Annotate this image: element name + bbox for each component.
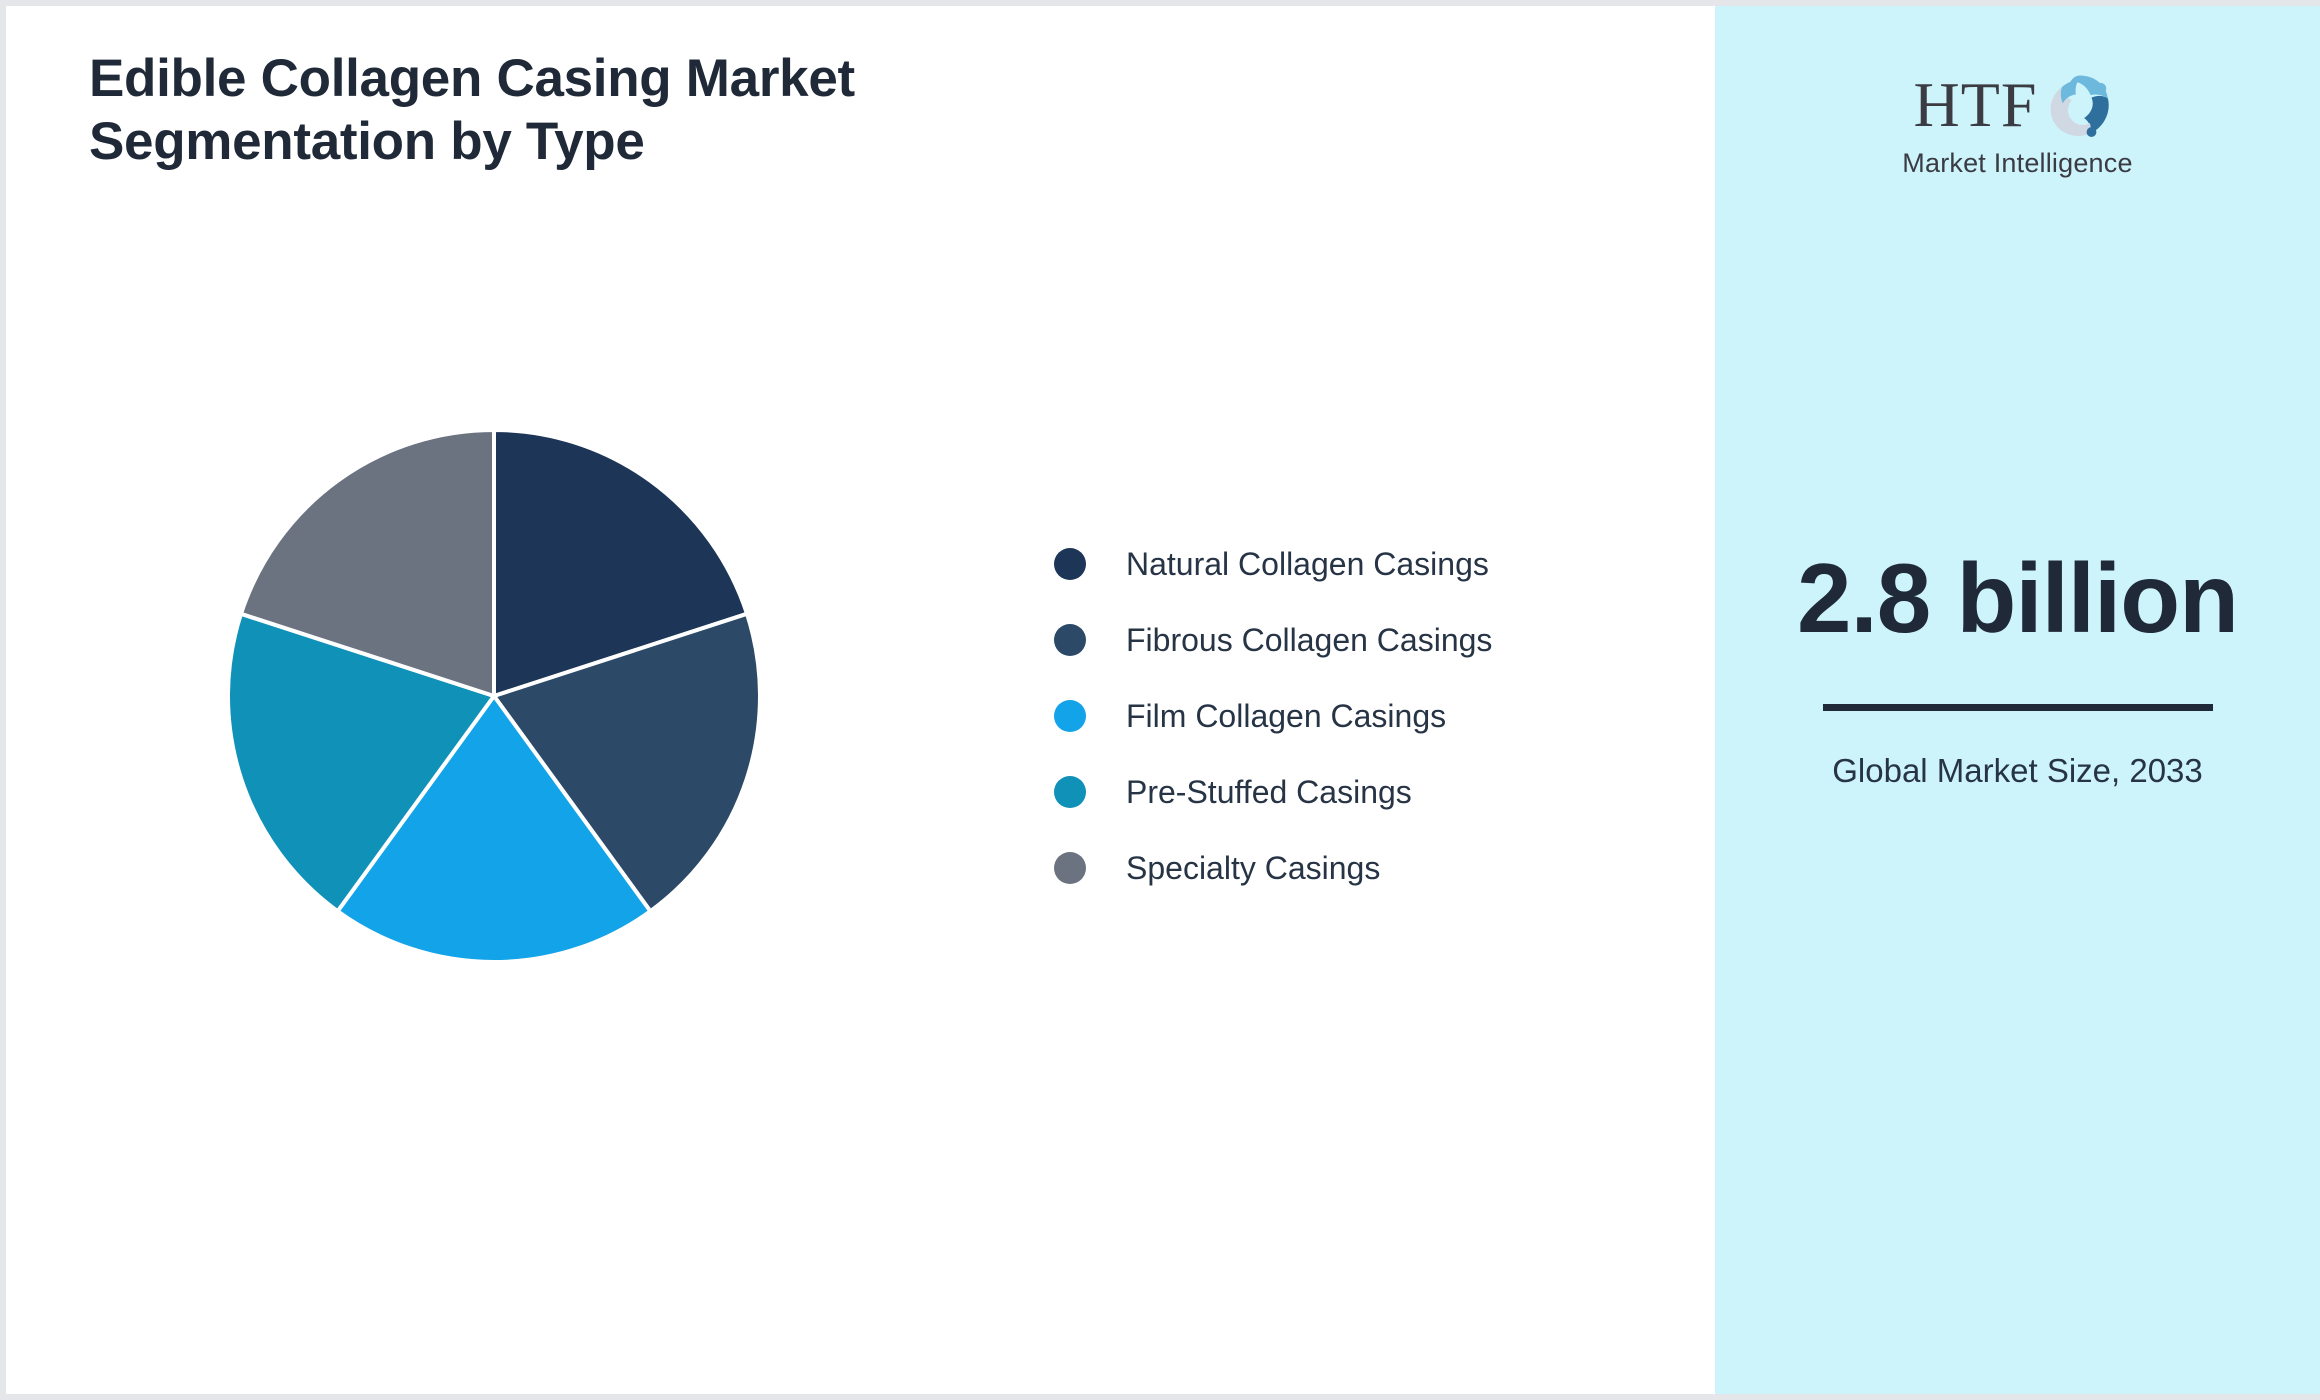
legend-item-fibrous-collagen-casings[interactable]: Fibrous Collagen Casings <box>1054 602 1492 678</box>
stat-panel: HTF Market Intelligence 2.8 billion Glob… <box>1715 6 2320 1394</box>
chart-legend: Natural Collagen Casings Fibrous Collage… <box>1054 526 1492 906</box>
stat-value: 2.8 billion <box>1768 546 2268 652</box>
logo-row: HTF <box>1914 64 2122 146</box>
legend-item-label: Specialty Casings <box>1126 850 1380 887</box>
legend-item-natural-collagen-casings[interactable]: Natural Collagen Casings <box>1054 526 1492 602</box>
dolphin-circle-icon <box>2039 64 2121 146</box>
stat-block: 2.8 billion Global Market Size, 2033 <box>1715 546 2320 793</box>
legend-item-specialty-casings[interactable]: Specialty Casings <box>1054 830 1492 906</box>
legend-swatch-icon <box>1054 852 1086 884</box>
legend-swatch-icon <box>1054 548 1086 580</box>
logo-wordmark: HTF <box>1914 73 2038 137</box>
infographic-card: Edible Collagen Casing Market Segmentati… <box>6 6 2320 1394</box>
legend-swatch-icon <box>1054 700 1086 732</box>
main-panel: Edible Collagen Casing Market Segmentati… <box>6 6 1715 1394</box>
legend-item-label: Film Collagen Casings <box>1126 698 1446 735</box>
logo-tagline: Market Intelligence <box>1902 148 2132 179</box>
page-title: Edible Collagen Casing Market Segmentati… <box>89 48 1189 173</box>
stat-caption: Global Market Size, 2033 <box>1808 749 2228 794</box>
legend-swatch-icon <box>1054 624 1086 656</box>
pie-chart-svg <box>214 416 774 976</box>
legend-item-film-collagen-casings[interactable]: Film Collagen Casings <box>1054 678 1492 754</box>
legend-item-label: Fibrous Collagen Casings <box>1126 622 1492 659</box>
stat-divider <box>1823 704 2213 711</box>
pie-chart <box>214 416 774 976</box>
legend-swatch-icon <box>1054 776 1086 808</box>
htf-logo: HTF Market Intelligence <box>1715 64 2320 179</box>
legend-item-pre-stuffed-casings[interactable]: Pre-Stuffed Casings <box>1054 754 1492 830</box>
legend-item-label: Pre-Stuffed Casings <box>1126 774 1412 811</box>
legend-item-label: Natural Collagen Casings <box>1126 546 1489 583</box>
